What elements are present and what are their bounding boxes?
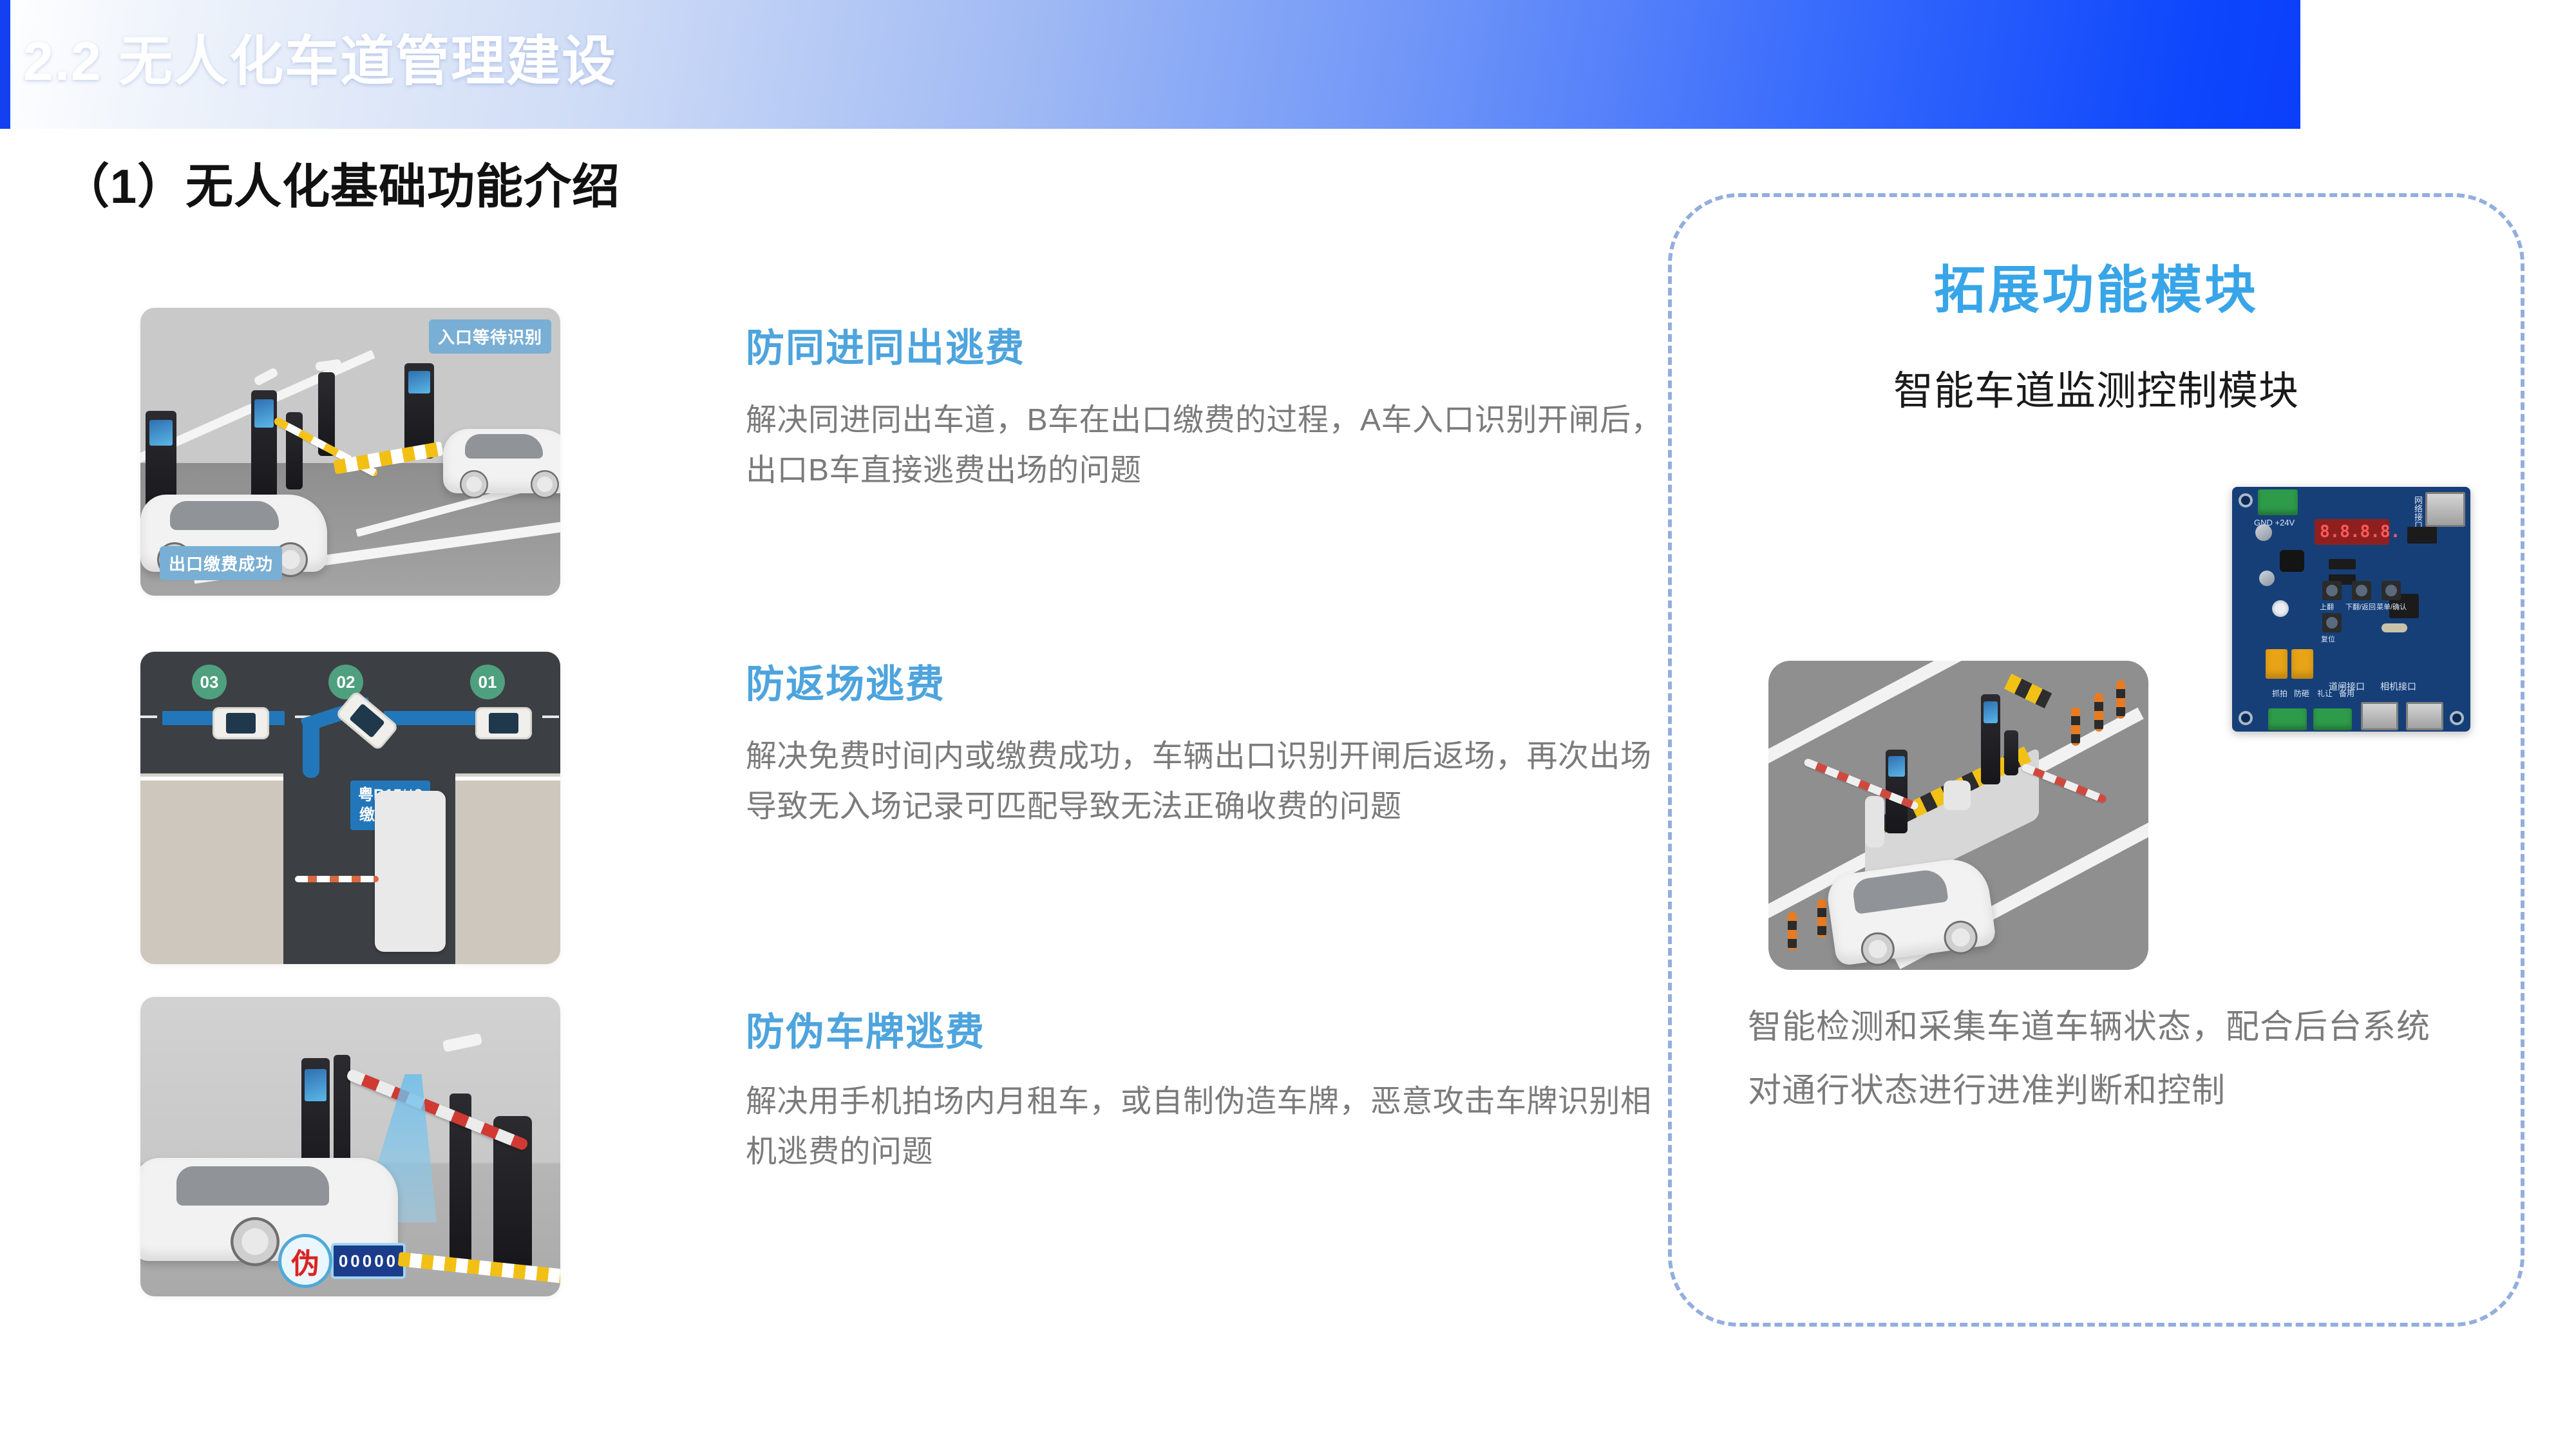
return-to-lot-topdown-diagram: 03 02 01 粤B15**2 缴费成功 (140, 652, 560, 964)
network-port-label: 网络接口 (2412, 496, 2424, 529)
button-up (2322, 581, 2342, 600)
marker-badge-03: 03 (192, 665, 227, 699)
pillar (1865, 796, 1884, 848)
wheel (531, 470, 559, 498)
windshield (176, 1166, 330, 1206)
isometric-smart-lane-scene (1768, 661, 2148, 970)
windshield (170, 501, 278, 531)
mount-hole (2241, 714, 2250, 723)
marker-badge-01: 01 (470, 665, 505, 699)
windshield (465, 434, 544, 459)
rj45-jack (2406, 702, 2443, 730)
fake-plate-seal: 伪 (278, 1234, 332, 1288)
feature-2-title: 防返场逃费 (746, 663, 1680, 706)
crystal-oscillator (2382, 623, 2407, 632)
camera-icon (442, 1033, 482, 1052)
pcb-substrate: GND +24V 网络接口 8.8.8.8. 上翻 下翻/返回 菜单/确认 复位 (2232, 487, 2470, 732)
lane-control-post (375, 791, 446, 952)
wheel (1942, 918, 1980, 956)
feature-1-text: 防同进同出逃费 解决同进同出车道，B车在出口缴费的过程，A车入口识别开闸后，出口… (746, 327, 1680, 496)
feature-2-text: 防返场逃费 解决免费时间内或缴费成功，车辆出口识别开闸后返场，再次出场导致无入场… (746, 663, 1680, 832)
parking-entrance-exit-illustration: 入口等待识别 出口缴费成功 (140, 308, 560, 596)
image-tag-exit-paid: 出口缴费成功 (160, 546, 282, 580)
kiosk-terminal (251, 390, 277, 506)
extension-module-panel: 拓展功能模块 智能车道监测控制模块 GND +24V 网络接口 8.8.8.8. (1668, 193, 2524, 1327)
extension-panel-description: 智能检测和采集车道车辆状态，配合后台系统对通行状态进行进准判断和控制 (1748, 996, 2456, 1123)
capacitor (2259, 571, 2275, 586)
button-reset-label: 复位 (2321, 634, 2335, 644)
bollard (2094, 693, 2103, 732)
image-tag-entry-wait: 入口等待识别 (429, 319, 551, 354)
feature-3-text: 防伪车牌逃费 解决用手机拍场内月租车，或自制伪造车牌，恶意攻击车牌识别相机逃费的… (746, 1011, 1680, 1177)
feature-3-title: 防伪车牌逃费 (746, 1011, 1680, 1054)
feature-item-2: 03 02 01 粤B15**2 缴费成功 防返场逃费 解决免费 (140, 652, 1622, 967)
iso-scene-canvas (1768, 661, 2148, 970)
ic-chip (2329, 559, 2356, 569)
feature-list: 入口等待识别 出口缴费成功 防同进同出逃费 解决同进同出车道，B车在出口缴费的过… (0, 0, 1610, 1449)
rj45-jack (2425, 492, 2465, 527)
display-value: 8.8.8.8. (2320, 522, 2400, 542)
capacitor (2255, 524, 2272, 541)
windshield (1851, 867, 1949, 914)
bollard (2116, 680, 2125, 719)
lane-control-pcb-board: GND +24V 网络接口 8.8.8.8. 上翻 下翻/返回 菜单/确认 复位 (2232, 487, 2470, 732)
buzzer (2272, 600, 2289, 617)
barrier-gate-arm (346, 1068, 529, 1151)
feature-1-thumbnail: 入口等待识别 出口缴费成功 (140, 308, 560, 596)
feature-3-description: 解决用手机拍场内月租车，或自制伪造车牌，恶意攻击车牌识别相机逃费的问题 (746, 1077, 1680, 1177)
vehicle (443, 429, 560, 493)
vehicle-topdown (475, 707, 532, 739)
mount-hole (2452, 714, 2461, 723)
power-terminal-block (2258, 489, 2298, 515)
rj45-jack (2361, 702, 2398, 730)
button-down-label: 下翻/返回 (2345, 601, 2376, 612)
bollard (1788, 912, 1797, 951)
seven-segment-display: 8.8.8.8. (2315, 519, 2389, 545)
wheel (460, 470, 488, 498)
feature-2-description: 解决免费时间内或缴费成功，车辆出口识别开闸后返场，再次出场导致无入场记录可匹配导… (746, 732, 1680, 832)
speed-bump (2004, 674, 2052, 708)
terminal-label-capture: 抓拍 (2272, 688, 2287, 699)
relay (2266, 649, 2287, 679)
yellow-curb (398, 1252, 560, 1284)
button-menu-confirm (2382, 581, 2401, 600)
parking-lot-left (140, 777, 287, 964)
button-menu-label: 菜单/确认 (2376, 601, 2407, 612)
feature-1-title: 防同进同出逃费 (746, 327, 1680, 370)
button-up-label: 上翻 (2320, 601, 2334, 612)
barrier-gate-arm (295, 876, 379, 882)
kiosk-screen (254, 399, 274, 427)
mount-hole (2241, 496, 2250, 505)
feature-2-thumbnail: 03 02 01 粤B15**2 缴费成功 (140, 652, 560, 964)
parking-lot-right (451, 777, 560, 964)
bollard (1817, 899, 1826, 938)
kiosk-screen (305, 1069, 326, 1101)
signage-box (1944, 781, 1971, 810)
extension-panel-subtitle: 智能车道监测控制模块 (1672, 358, 2521, 416)
terminal-label-spare: 备用 (2339, 688, 2354, 699)
feature-item-3: 00000 伪 防伪车牌逃费 解决用手机拍场内月租车，或自制伪造车牌，恶意攻击车… (140, 997, 1622, 1300)
camera-icon (253, 367, 279, 386)
kiosk-screen (149, 420, 173, 446)
wheel (1859, 930, 1897, 968)
terminal-label-yield: 礼让 (2317, 688, 2333, 699)
io-terminal-block (2313, 708, 2352, 730)
kiosk-terminal (1981, 694, 2000, 784)
kiosk-terminal (2004, 730, 2018, 775)
kiosk-screen (1888, 756, 1905, 776)
feature-item-1: 入口等待识别 出口缴费成功 防同进同出逃费 解决同进同出车道，B车在出口缴费的过… (140, 308, 1622, 598)
wheel (231, 1217, 279, 1266)
kiosk-screen (408, 371, 431, 394)
io-terminal-block (2268, 708, 2307, 730)
relay (2291, 649, 2313, 679)
terminal-label-anticrash: 防砸 (2294, 688, 2309, 699)
feature-3-thumbnail: 00000 伪 (140, 997, 560, 1296)
button-down-back (2352, 581, 2371, 600)
kiosk-screen (1984, 701, 1998, 723)
extension-panel-title: 拓展功能模块 (1672, 249, 2521, 323)
license-plate: 00000 (331, 1243, 406, 1279)
bollard (2071, 707, 2080, 746)
fake-license-plate-illustration: 00000 伪 (140, 997, 560, 1296)
vehicle-topdown (213, 707, 269, 739)
feature-1-description: 解决同进同出车道，B车在出口缴费的过程，A车入口识别开闸后，出口B车直接逃费出场… (746, 395, 1680, 496)
button-reset (2322, 613, 2342, 632)
camera-port-label: 相机接口 (2380, 680, 2416, 693)
ic-chip (2407, 527, 2437, 544)
inductor (2280, 550, 2304, 572)
